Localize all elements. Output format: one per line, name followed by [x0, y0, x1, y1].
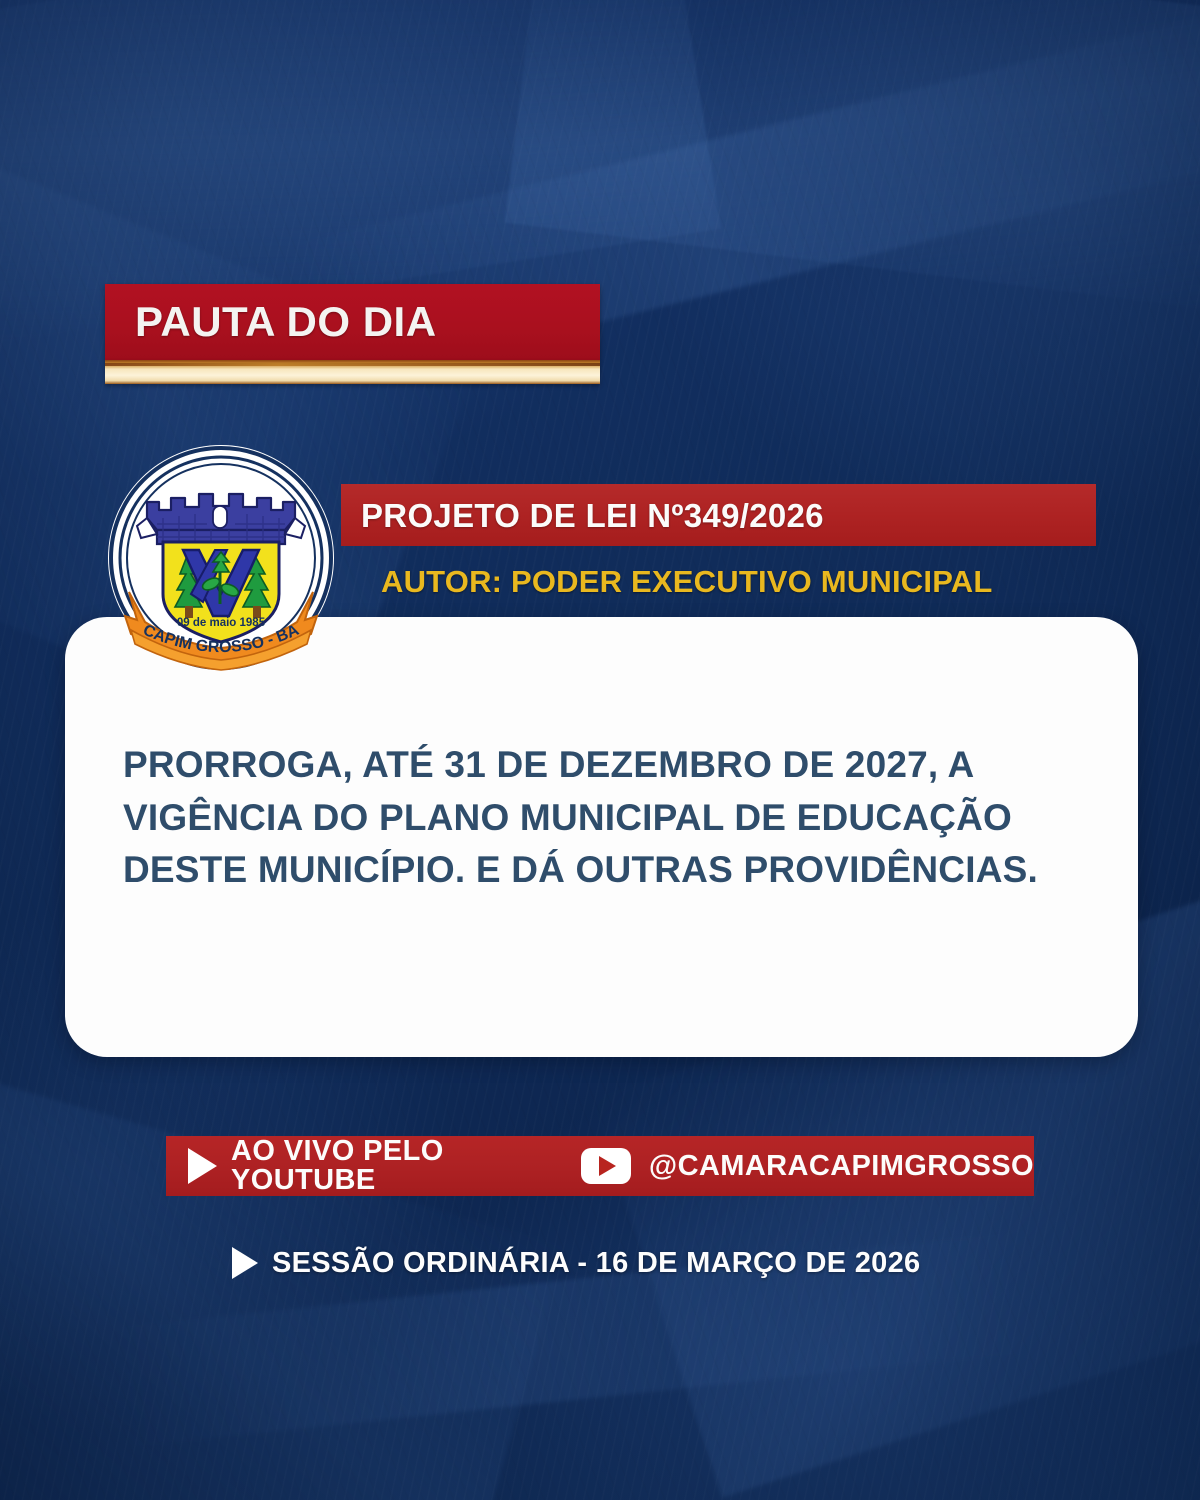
play-triangle-icon — [188, 1148, 217, 1184]
bill-number-title: PROJETO DE LEI Nº349/2026 — [341, 499, 824, 532]
poster-canvas: PAUTA DO DIA PROJETO DE LEI Nº349/2026 A… — [0, 0, 1200, 1500]
emblem-date-text: 09 de maio 1985 — [177, 617, 266, 629]
bill-author-line: AUTOR: PODER EXECUTIVO MUNICIPAL — [381, 560, 1081, 602]
play-triangle-icon — [232, 1247, 258, 1279]
bill-summary-card: PRORROGA, ATÉ 31 DE DEZEMBRO DE 2027, A … — [65, 617, 1138, 1057]
pauta-do-dia-title: PAUTA DO DIA — [105, 301, 437, 343]
youtube-icon — [581, 1148, 631, 1184]
bill-summary-text: PRORROGA, ATÉ 31 DE DEZEMBRO DE 2027, A … — [123, 739, 1103, 897]
youtube-handle: @CAMARACAPIMGROSSO — [649, 1152, 1034, 1181]
session-info-line: SESSÃO ORDINÁRIA - 16 DE MARÇO DE 2026 — [232, 1240, 972, 1286]
pauta-gold-underline — [105, 360, 600, 384]
pauta-do-dia-banner: PAUTA DO DIA — [105, 284, 600, 360]
youtube-live-label: AO VIVO PELO YOUTUBE — [231, 1137, 545, 1195]
youtube-live-bar[interactable]: AO VIVO PELO YOUTUBE @CAMARACAPIMGROSSO — [166, 1136, 1034, 1196]
bill-author-text: AUTOR: PODER EXECUTIVO MUNICIPAL — [381, 566, 993, 597]
session-info-text: SESSÃO ORDINÁRIA - 16 DE MARÇO DE 2026 — [272, 1249, 920, 1278]
youtube-play-triangle-icon — [599, 1156, 616, 1176]
background-brush-stroke — [505, 0, 1200, 315]
bill-number-bar: PROJETO DE LEI Nº349/2026 — [341, 484, 1096, 546]
coat-of-arms-emblem: 09 de maio 1985 CAPIM GROSSO - BA — [107, 444, 335, 672]
